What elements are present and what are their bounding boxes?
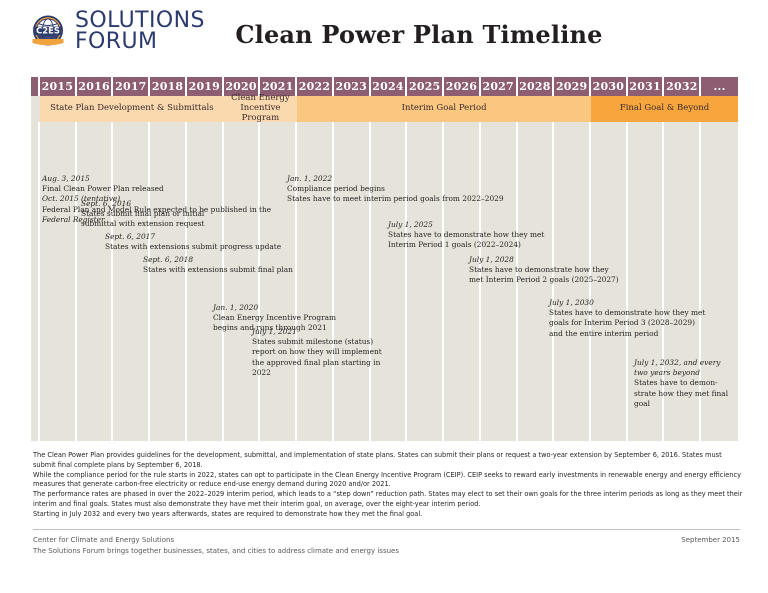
note-2021-text: report on how they will implement [252,347,432,357]
year-header-cell-2017: 2017 [113,77,150,96]
note-2030-date: July 1, 2030 [549,298,768,308]
note-2022-date: Jan. 1, 2022 [287,174,587,184]
note-2028-text: met Interim Period 2 goals (2025–2027) [469,275,749,285]
grid-column-2021 [260,122,297,441]
page-header: C2ES SOLUTIONS FORUM Clean Power Plan Ti… [0,0,768,72]
note-2025-text: States have to demonstrate how they met [388,230,668,240]
note-2028: July 1, 2028States have to demonstrate h… [469,255,749,286]
explanatory-note-4: Starting in July 2032 and every two year… [33,510,743,520]
note-2032: July 1, 2032, and everytwo years beyondS… [634,358,754,409]
note-2015-text: Final Clean Power Plan released [42,184,302,194]
footer-tagline: The Solutions Forum brings together busi… [33,546,399,557]
note-2021: July 1, 2021States submit milestone (sta… [252,327,432,378]
footer-org-name: Center for Climate and Energy Solutions [33,535,399,546]
year-header-lead-cell [31,77,40,96]
grid-column-2020 [224,122,261,441]
year-header-cell-: ... [701,77,738,96]
note-2028-text: States have to demonstrate how they [469,265,749,275]
year-header-cell-2022: 2022 [297,77,334,96]
note-2018: Sept. 6, 2018States with extensions subm… [143,255,403,275]
timeline-year-header-row: 2015201620172018201920202021202220232024… [31,77,738,96]
note-2030-text: and the entire interim period [549,329,768,339]
timeline-phase-row: State Plan Development & SubmittalsClean… [31,96,738,122]
timeline-body: Aug. 3, 2015Final Clean Power Plan relea… [31,122,738,441]
page-title: Clean Power Plan Timeline [0,20,768,49]
note-2032-text: States have to demon- [634,378,754,388]
grid-column-2024 [371,122,408,441]
note-2016-text: States submit final plan or initial [81,209,341,219]
phase-lead-cell [31,96,40,122]
year-header-cell-2028: 2028 [518,77,555,96]
phase-band-1: State Plan Development & Submittals [40,96,224,122]
note-2020-date: Jan. 1, 2020 [213,303,393,313]
note-2015-date: Aug. 3, 2015 [42,174,302,184]
explanatory-note-3: The performance rates are phased in over… [33,490,743,509]
year-header-cell-2015: 2015 [40,77,77,96]
grid-lead-column [31,122,40,441]
year-header-cell-2019: 2019 [187,77,224,96]
note-2025-date: July 1, 2025 [388,220,668,230]
note-2032-date: July 1, 2032, and everytwo years beyond [634,358,754,378]
year-header-cell-2032: 2032 [664,77,701,96]
year-header-cell-2026: 2026 [444,77,481,96]
note-2021-date: July 1, 2021 [252,327,432,337]
year-header-cell-2025: 2025 [407,77,444,96]
grid-column-2017 [113,122,150,441]
footer-date: September 2015 [681,535,740,546]
explanatory-note-2: While the compliance period for the rule… [33,471,743,490]
phase-band-3: Interim Goal Period [297,96,591,122]
note-2017-date: Sept. 6, 2017 [105,232,365,242]
grid-column-2018 [150,122,187,441]
year-header-cell-2029: 2029 [554,77,591,96]
grid-column-2015 [40,122,77,441]
note-2017: Sept. 6, 2017States with extensions subm… [105,232,365,252]
page-footer: Center for Climate and Energy Solutions … [33,529,740,556]
grid-column-2022 [297,122,334,441]
grid-column-2025 [407,122,444,441]
note-2030: July 1, 2030States have to demonstrate h… [549,298,768,339]
timeline-chart: 2015201620172018201920202021202220232024… [31,77,738,441]
note-2025-text: Interim Period 1 goals (2022–2024) [388,240,668,250]
year-header-cell-2030: 2030 [591,77,628,96]
year-header-cell-2018: 2018 [150,77,187,96]
note-2022: Jan. 1, 2022Compliance period beginsStat… [287,174,587,205]
note-2032-text: goal [634,399,754,409]
phase-band-2: Clean EnergyIncentive Program [224,96,297,122]
footer-org-block: Center for Climate and Energy Solutions … [33,535,399,556]
explanatory-note-1: The Clean Power Plan provides guidelines… [33,451,743,470]
note-2021-text: 2022 [252,368,432,378]
note-2028-date: July 1, 2028 [469,255,749,265]
note-2030-text: goals for Interim Period 3 (2028–2029) [549,318,768,328]
grid-column-2016 [77,122,114,441]
year-header-cell-2031: 2031 [628,77,665,96]
explanatory-notes: The Clean Power Plan provides guidelines… [33,451,743,520]
grid-column-2023 [334,122,371,441]
note-2030-text: States have to demonstrate how they met [549,308,768,318]
year-header-cell-2023: 2023 [334,77,371,96]
note-2017-text: States with extensions submit progress u… [105,242,365,252]
grid-column-2019 [187,122,224,441]
phase-band-4: Final Goal & Beyond [591,96,738,122]
note-2032-text: strate how they met final [634,389,754,399]
note-2018-date: Sept. 6, 2018 [143,255,403,265]
note-2020-text: Clean Energy Incentive Program [213,313,393,323]
year-header-cell-2024: 2024 [371,77,408,96]
year-header-cell-2027: 2027 [481,77,518,96]
note-2021-text: States submit milestone (status) [252,337,432,347]
year-header-cell-2016: 2016 [77,77,114,96]
note-2021-text: the approved final plan starting in [252,358,432,368]
note-2016-text: submittal with extension request [81,219,341,229]
note-2025: July 1, 2025States have to demonstrate h… [388,220,668,251]
note-2022-text: Compliance period begins [287,184,587,194]
note-2022-text: States have to meet interim period goals… [287,194,587,204]
note-2018-text: States with extensions submit final plan [143,265,403,275]
